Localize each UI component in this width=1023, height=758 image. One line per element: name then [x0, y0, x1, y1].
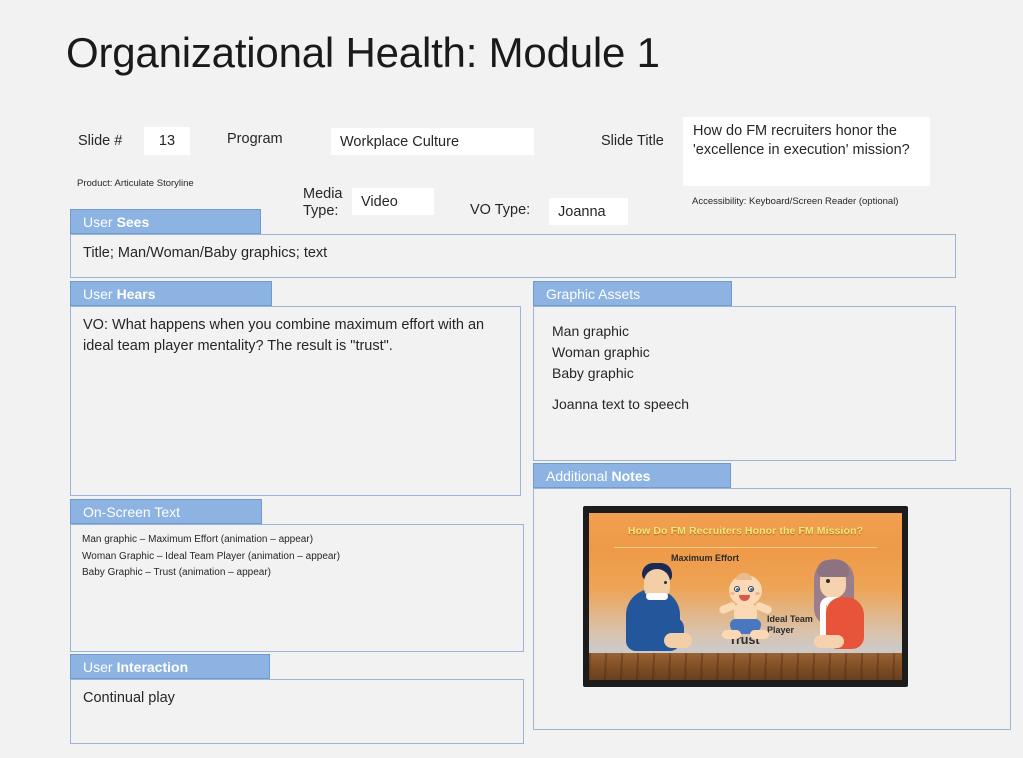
- slide-number-label: Slide #: [78, 133, 122, 149]
- section-header-graphic-assets: Graphic Assets: [533, 281, 732, 306]
- user-hears-head-prefix: User: [83, 286, 113, 302]
- baby-cheek-right: [755, 592, 760, 595]
- vo-type-label: VO Type:: [470, 202, 530, 218]
- user-sees-head-prefix: User: [83, 214, 113, 230]
- media-type-label: Media Type:: [303, 186, 353, 219]
- slide-thumbnail-canvas: How Do FM Recruiters Honor the FM Missio…: [589, 513, 902, 680]
- product-note: Product: Articulate Storyline: [77, 178, 307, 190]
- divider: [614, 547, 877, 548]
- list-item: Woman Graphic – Ideal Team Player (anima…: [82, 549, 512, 566]
- on-screen-text-head-prefix: On-Screen Text: [83, 504, 180, 520]
- section-body-user-sees[interactable]: Title; Man/Woman/Baby graphics; text: [70, 234, 956, 278]
- woman-graphic: [800, 555, 872, 655]
- slide-number-field[interactable]: 13: [144, 127, 190, 155]
- slide-canvas: Organizational Health: Module 1 Slide # …: [0, 0, 1023, 758]
- man-collar: [646, 593, 668, 600]
- program-field[interactable]: Workplace Culture: [331, 128, 534, 155]
- user-interaction-head-bold: Interaction: [117, 659, 189, 675]
- spacer: [552, 384, 937, 394]
- media-type-field[interactable]: Video: [352, 188, 434, 215]
- baby-cheek-left: [730, 592, 735, 595]
- list-item: Baby graphic: [552, 363, 937, 384]
- user-hears-head-bold: Hears: [117, 286, 156, 302]
- section-header-on-screen-text: On-Screen Text: [70, 499, 262, 524]
- program-label: Program: [227, 131, 283, 147]
- slide-thumbnail-title: How Do FM Recruiters Honor the FM Missio…: [589, 525, 902, 537]
- additional-notes-head-prefix: Additional: [546, 468, 608, 484]
- list-item: Man graphic: [552, 321, 937, 342]
- section-body-user-interaction[interactable]: Continual play: [70, 679, 524, 744]
- woman-arm: [814, 635, 844, 648]
- list-item: Woman graphic: [552, 342, 937, 363]
- woman-eye: [826, 579, 830, 583]
- additional-notes-head-bold: Notes: [612, 468, 651, 484]
- slide-thumbnail[interactable]: How Do FM Recruiters Honor the FM Missio…: [583, 506, 908, 687]
- wooden-floor: [589, 653, 902, 680]
- graphic-assets-head-prefix: Graphic Assets: [546, 286, 640, 302]
- man-eye: [664, 581, 667, 584]
- woman-hair-front: [817, 560, 849, 577]
- baby-eye-left: [734, 586, 740, 592]
- section-header-user-hears: UserHears: [70, 281, 272, 306]
- man-graphic: [620, 561, 688, 655]
- list-item: Man graphic – Maximum Effort (animation …: [82, 532, 512, 549]
- page-title: Organizational Health: Module 1: [66, 29, 660, 77]
- section-body-user-hears[interactable]: VO: What happens when you combine maximu…: [70, 306, 521, 496]
- baby-leg-left: [722, 630, 741, 639]
- man-arm: [664, 633, 692, 648]
- vo-type-field[interactable]: Joanna: [549, 198, 628, 225]
- baby-leg-right: [750, 630, 769, 639]
- section-body-graphic-assets[interactable]: Man graphic Woman graphic Baby graphic J…: [533, 306, 956, 461]
- section-header-user-sees: UserSees: [70, 209, 261, 234]
- section-header-additional-notes: AdditionalNotes: [533, 463, 731, 488]
- section-body-on-screen-text[interactable]: Man graphic – Maximum Effort (animation …: [70, 524, 524, 652]
- section-header-user-interaction: UserInteraction: [70, 654, 270, 679]
- baby-graphic: [717, 575, 773, 643]
- user-interaction-head-prefix: User: [83, 659, 113, 675]
- baby-eye-right: [748, 586, 754, 592]
- slide-title-label: Slide Title: [601, 133, 664, 149]
- user-sees-head-bold: Sees: [117, 214, 150, 230]
- slide-title-field[interactable]: How do FM recruiters honor the 'excellen…: [683, 117, 930, 186]
- graphic-assets-footer: Joanna text to speech: [552, 394, 937, 415]
- list-item: Baby Graphic – Trust (animation – appear…: [82, 565, 512, 582]
- accessibility-note: Accessibility: Keyboard/Screen Reader (o…: [692, 196, 907, 208]
- baby-hair: [736, 573, 752, 580]
